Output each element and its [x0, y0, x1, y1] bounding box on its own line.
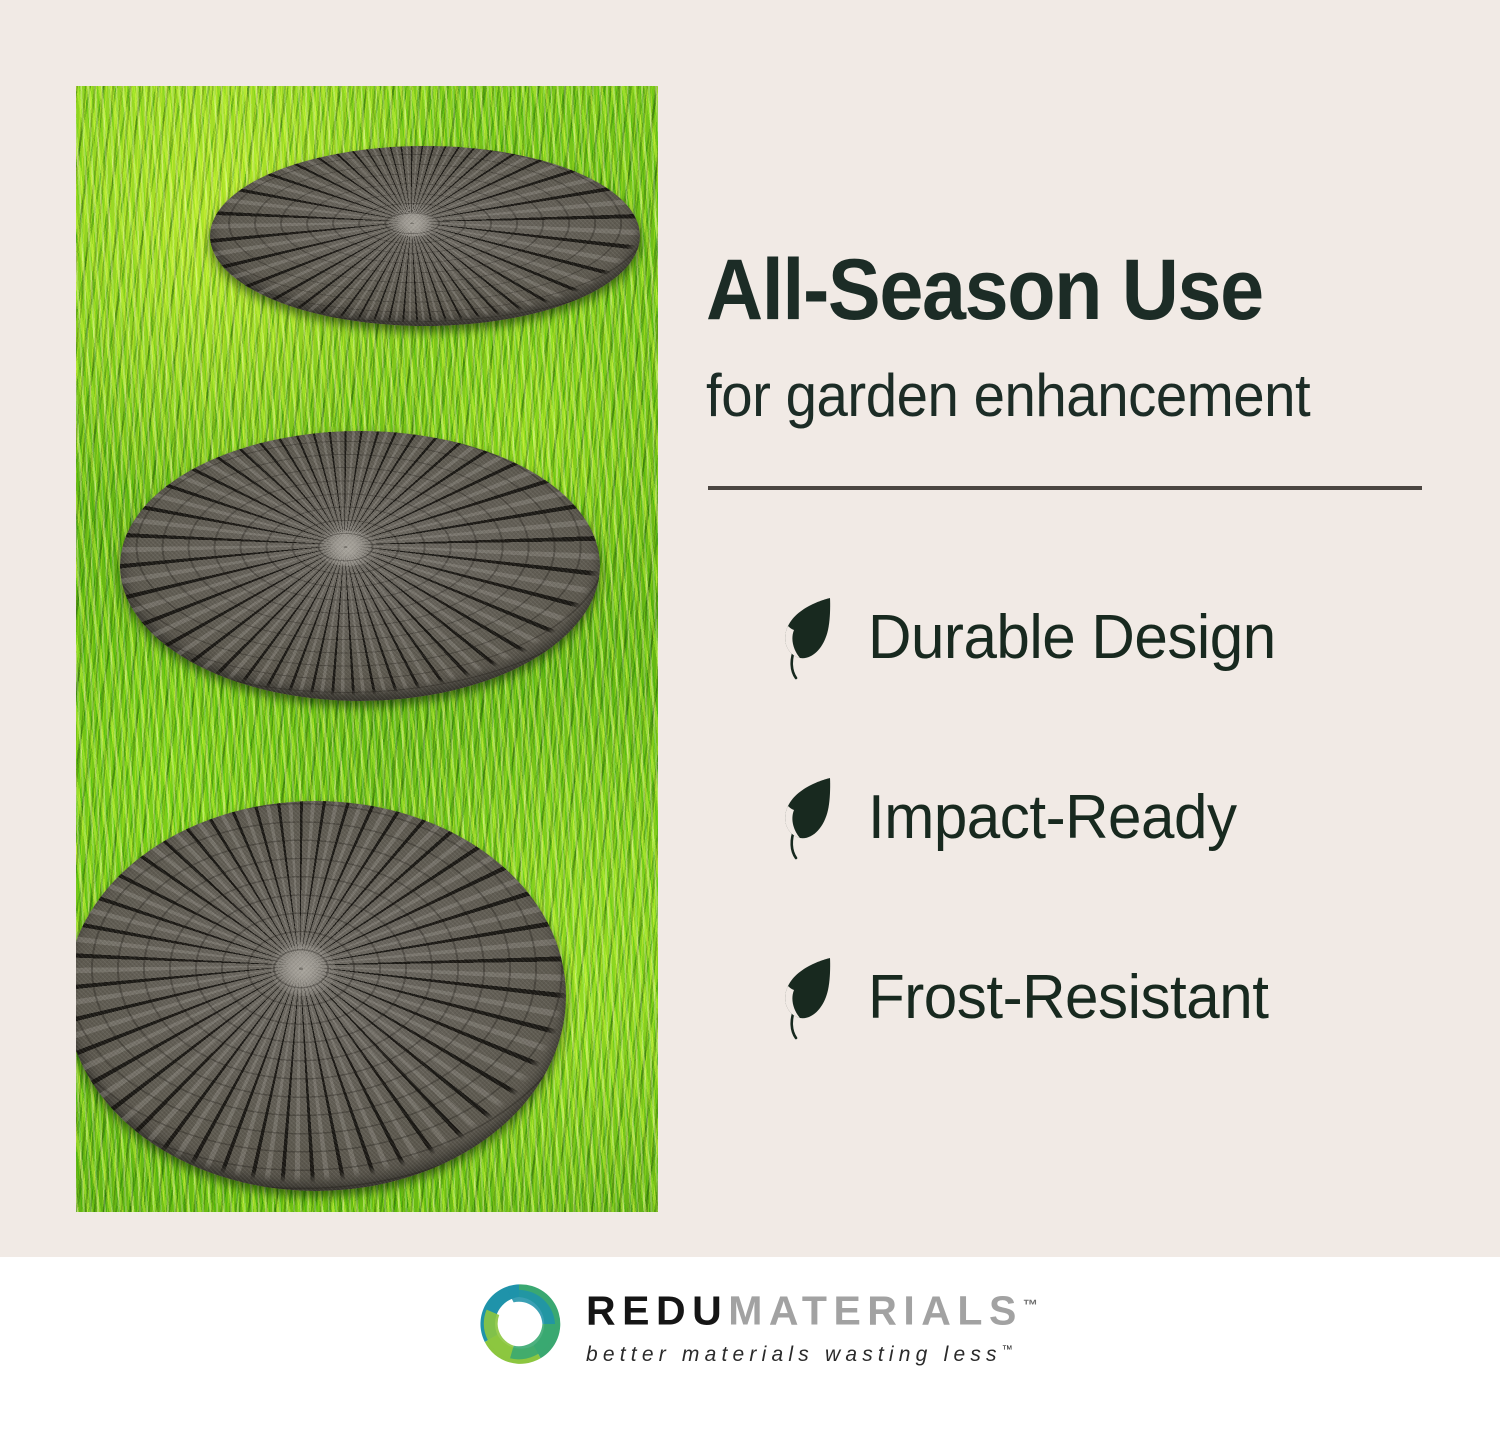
list-item-label: Impact-Ready	[868, 785, 1237, 851]
trademark-symbol: ™	[1023, 1297, 1038, 1314]
divider	[708, 486, 1422, 490]
main-cream-panel: All-Season Use for garden enhancement Du…	[0, 0, 1500, 1257]
page-subtitle: for garden enhancement	[706, 364, 1420, 428]
list-item: Impact-Ready	[706, 728, 1466, 908]
stepping-stone-middle	[120, 431, 600, 701]
feature-list: Durable Design Impact-Ready Frost-Resist…	[706, 548, 1466, 1088]
redu-swirl-logo-icon	[474, 1279, 564, 1369]
stone-pith-center	[271, 945, 336, 996]
leaf-icon	[778, 596, 838, 680]
stepping-stone-top	[210, 146, 640, 326]
wordmark-primary: REDU	[586, 1288, 728, 1334]
content-column: All-Season Use for garden enhancement Du…	[706, 0, 1466, 1257]
wordmark: REDUMATERIALS™	[586, 1284, 1038, 1333]
leaf-icon	[778, 776, 838, 860]
wordmark-secondary: MATERIALS	[728, 1288, 1023, 1334]
brand-logo: REDUMATERIALS™ better materials wasting …	[474, 1279, 1038, 1369]
footer-bar: REDUMATERIALS™ better materials wasting …	[0, 1257, 1500, 1430]
stepping-stone-bottom	[76, 801, 566, 1191]
stone-pith-center	[386, 213, 442, 236]
tagline-trademark-symbol: ™	[1002, 1344, 1013, 1356]
list-item: Frost-Resistant	[706, 908, 1466, 1088]
stone-pith-center	[317, 531, 379, 566]
list-item-label: Durable Design	[868, 605, 1276, 671]
list-item-label: Frost-Resistant	[868, 965, 1268, 1031]
tagline-text: better materials wasting less	[586, 1343, 1002, 1366]
page-title: All-Season Use	[706, 246, 1387, 334]
product-photo	[76, 86, 658, 1212]
brand-tagline: better materials wasting less™	[586, 1337, 1038, 1368]
list-item: Durable Design	[706, 548, 1466, 728]
leaf-icon	[778, 956, 838, 1040]
logo-text-block: REDUMATERIALS™ better materials wasting …	[586, 1284, 1038, 1368]
